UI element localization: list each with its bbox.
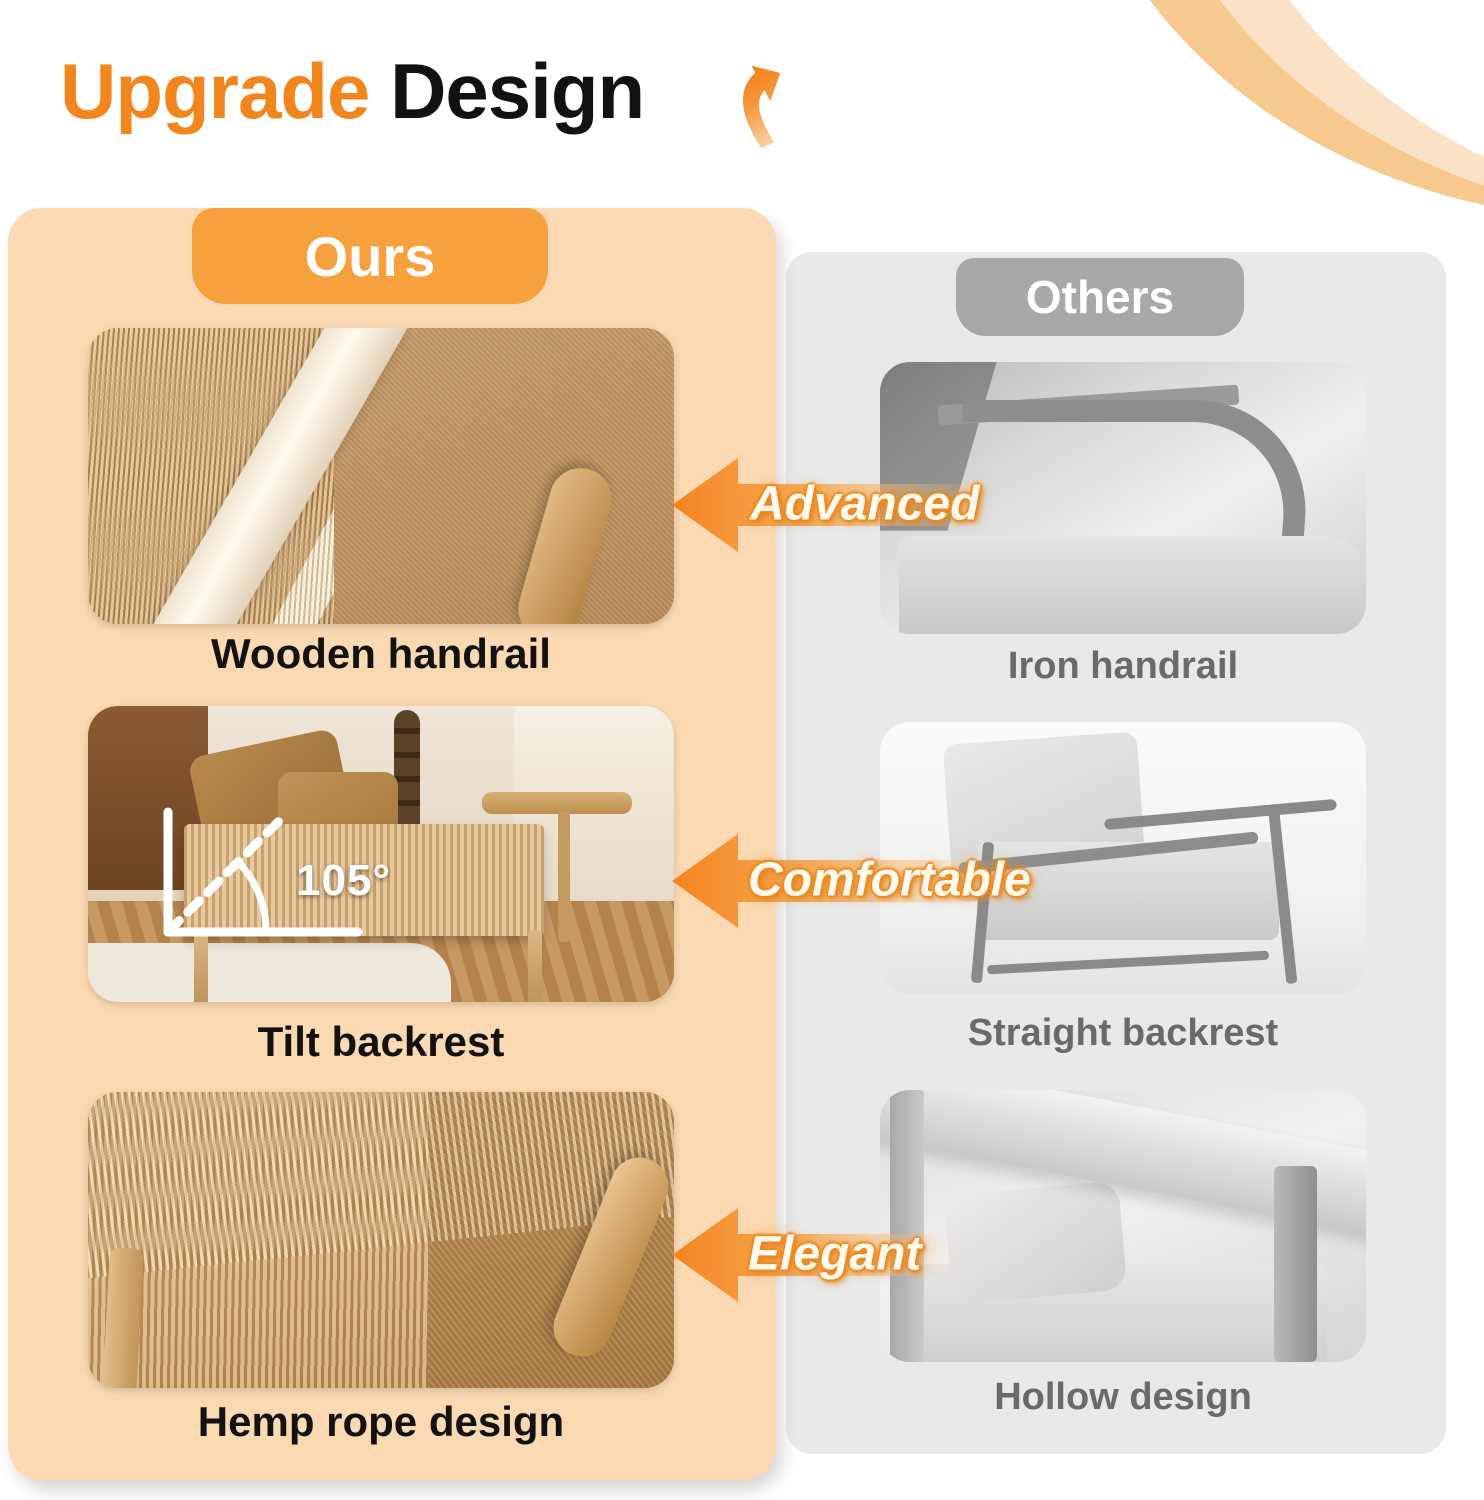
frame-post-right bbox=[1274, 1166, 1318, 1362]
fabric-texture-layer bbox=[334, 328, 674, 624]
ours-image-card-2: 105° bbox=[88, 706, 674, 1002]
back-pillow bbox=[944, 1180, 1128, 1304]
curved-up-arrow-icon bbox=[728, 38, 798, 148]
arrow-label-comfortable: Comfortable bbox=[748, 852, 1031, 907]
angle-value-label: 105° bbox=[296, 856, 391, 906]
others-badge-label: Others bbox=[1026, 270, 1174, 324]
ours-image-card-3 bbox=[88, 1092, 674, 1388]
arrow-label-elegant: Elegant bbox=[748, 1226, 921, 1281]
title-word-upgrade: Upgrade bbox=[60, 47, 369, 135]
ours-caption-2: Tilt backrest bbox=[88, 1018, 674, 1066]
corner-swoosh-decoration bbox=[1064, 0, 1484, 260]
others-caption-3: Hollow design bbox=[880, 1376, 1366, 1419]
side-table-top bbox=[482, 792, 632, 814]
iron-curved-rail bbox=[952, 400, 1313, 558]
ours-image-card-1 bbox=[88, 328, 674, 624]
title-word-design: Design bbox=[390, 47, 644, 135]
comparison-arrow-3: Elegant bbox=[672, 1202, 964, 1308]
others-caption-1: Iron handrail bbox=[880, 645, 1366, 688]
wooden-leg-post bbox=[102, 1247, 144, 1388]
infographic-page: Upgrade Design Ours Others bbox=[0, 0, 1484, 1500]
chair-leg-rear bbox=[528, 930, 542, 1002]
hemp-rope-weave-photo bbox=[88, 1092, 674, 1388]
side-table-leg bbox=[558, 812, 570, 942]
others-caption-2: Straight backrest bbox=[880, 1012, 1366, 1055]
ours-badge-label: Ours bbox=[305, 224, 436, 289]
ours-badge: Ours bbox=[192, 208, 548, 304]
living-room-rope-chair-photo: 105° bbox=[88, 706, 674, 1002]
swoosh-layer-white bbox=[1204, 0, 1484, 220]
others-badge: Others bbox=[956, 258, 1244, 336]
ours-caption-1: Wooden handrail bbox=[88, 630, 674, 678]
swoosh-layer-light bbox=[1134, 0, 1484, 220]
chair-cross-brace bbox=[987, 950, 1269, 974]
comparison-arrow-2: Comfortable bbox=[672, 828, 1002, 934]
page-title: Upgrade Design bbox=[60, 46, 644, 137]
woven-rope-wooden-handrail-photo bbox=[88, 328, 674, 624]
comparison-arrow-1: Advanced bbox=[672, 452, 984, 558]
swoosh-layer-dark bbox=[1064, 0, 1484, 220]
arrow-label-advanced: Advanced bbox=[750, 476, 979, 531]
ours-caption-3: Hemp rope design bbox=[88, 1398, 674, 1446]
